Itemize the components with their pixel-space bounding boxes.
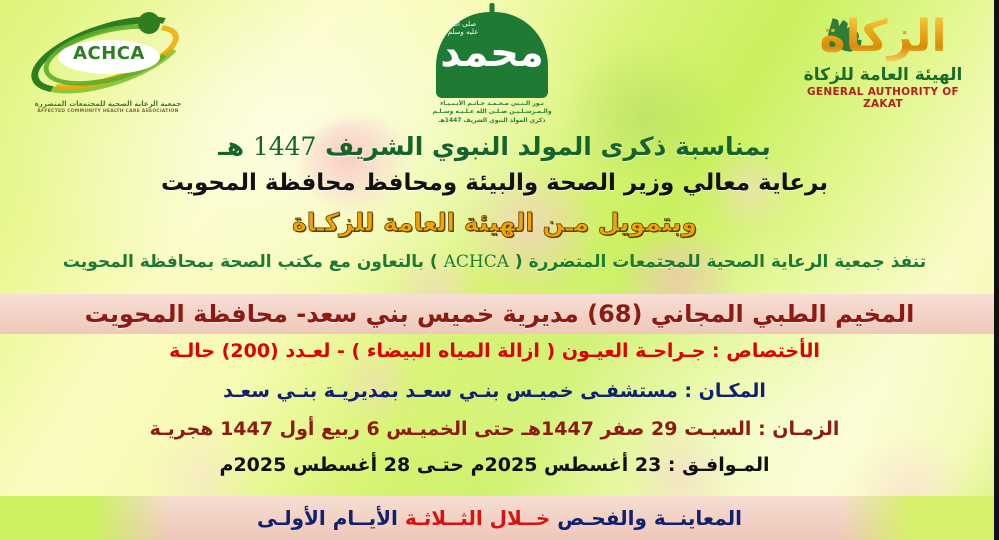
camp-title-banner: المخيم الطبي المجاني (68) مديرية خميس بن…	[0, 294, 999, 334]
muhammad-calligraphy: محمد	[436, 22, 548, 84]
funding-line: وبتمويل مـن الهيئة العامة للزكـاة	[0, 208, 994, 237]
specialization-value: جـراحـة العيـون ( ازالة المياه البيضاء )…	[169, 340, 705, 362]
footer-part-2: الأيــام الأولـى	[257, 506, 398, 530]
footer-note-band: المعاينــة والفحـص خــلال الثــلاثـة الأ…	[0, 496, 999, 540]
occasion-line: بمناسبة ذكرى المولد النبوي الشريف 1447 ه…	[0, 132, 994, 161]
patronage-line: برعاية معالي وزير الصحة والبيئة ومحافظ م…	[0, 170, 994, 196]
emblem-band-line-1: نـور الـنـبي مـحـمـد خـاتـم الأنـبـيـاء	[428, 100, 556, 108]
occasion-text: بمناسبة ذكرى المولد النبوي الشريف	[325, 132, 771, 161]
gregorian-label: المـوافـق :	[668, 454, 770, 476]
time-label: الزمـان :	[758, 418, 839, 440]
zakat-name-english: GENERAL AUTHORITY OF ZAKAT	[787, 86, 979, 110]
poster-canvas: ACHCA جمعية الرعاية الصحية للمجتمعات الم…	[0, 0, 999, 540]
footer-note-text: المعاينــة والفحـص خــلال الثــلاثـة الأ…	[257, 506, 742, 530]
implementer-acronym: ACHCA	[444, 252, 509, 272]
emblem-text-band: نـور الـنـبي مـحـمـد خـاتـم الأنـبـيـاء …	[428, 100, 556, 116]
poster-header: ACHCA جمعية الرعاية الصحية للمجتمعات الم…	[0, 0, 999, 136]
implementer-suffix: ) بالتعاون مع مكتب الصحة بمحافظة المحويت	[63, 252, 438, 272]
footer-highlight: خــلال الثــلاثـة	[398, 506, 557, 530]
gregorian-value: 23 أغسطس 2025م حتـى 28 أغسطس 2025م	[220, 454, 662, 476]
mawlid-emblem: صلى الله عليه وسلم محمد نـور الـنـبي مـح…	[428, 12, 556, 134]
zakat-logo: الزكاة الهيئة العامة للزكاة GENERAL AUTH…	[787, 12, 979, 130]
achca-subtitle-arabic: جمعية الرعاية الصحية للمجتمعات المتضررة	[18, 100, 198, 108]
emblem-caption: ذكرى المولد النبوي الشريف 1447هـ	[428, 117, 556, 124]
footer-part-1: المعاينــة والفحـص	[557, 506, 742, 530]
time-value: السبـت 29 صفر 1447هـ حتى الخميـس 6 ربيع …	[150, 418, 752, 440]
zakat-name-arabic: الهيئة العامة للزكاة	[787, 65, 979, 85]
implementer-line: تنفذ جمعية الرعاية الصحية للمجتمعات المت…	[0, 252, 994, 272]
specialization-label: الأختصاص :	[712, 340, 820, 362]
time-line: الزمـان : السبـت 29 صفر 1447هـ حتى الخمي…	[0, 418, 994, 440]
achca-logo: ACHCA جمعية الرعاية الصحية للمجتمعات الم…	[18, 14, 198, 126]
place-line: المكـان : مستشفـى خميـس بنـي سعـد بمديري…	[0, 380, 994, 402]
specialization-line: الأختصاص : جـراحـة العيـون ( ازالة الميا…	[0, 340, 994, 362]
zakat-wordmark: الزكاة	[787, 12, 979, 62]
mosque-dome-icon: صلى الله عليه وسلم محمد	[436, 12, 548, 98]
place-label: المكـان :	[684, 380, 766, 402]
implementer-prefix: تنفذ جمعية الرعاية الصحية للمجتمعات المت…	[515, 252, 926, 272]
camp-title-text: المخيم الطبي المجاني (68) مديرية خميس بن…	[85, 300, 915, 328]
achca-subtitle-english: AFFECTED COMMUNITY HEALTH CARE ASSOCIATI…	[18, 109, 198, 114]
occasion-suffix: هـ	[218, 132, 244, 161]
occasion-year: 1447	[253, 132, 317, 161]
place-value: مستشفـى خميـس بنـي سعـد بمديريـة بنـي سع…	[223, 380, 678, 402]
achca-emblem: ACHCA	[28, 14, 188, 98]
achca-wordmark: ACHCA	[58, 43, 160, 64]
logo-dot-icon	[138, 12, 160, 34]
gregorian-date-line: المـوافـق : 23 أغسطس 2025م حتـى 28 أغسطس…	[0, 454, 994, 476]
emblem-band-line-2: والـمـرسـلـيـن صـلـى الله عـلـيـه وسـلـم	[428, 108, 556, 116]
